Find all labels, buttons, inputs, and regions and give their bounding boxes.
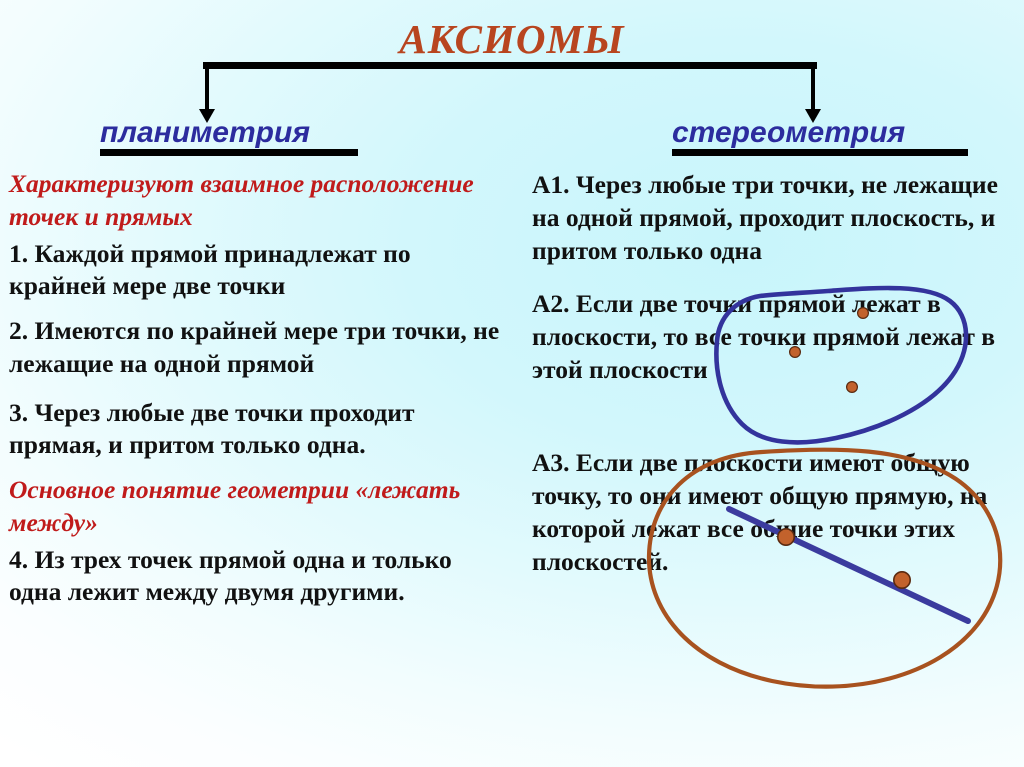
bracket-left-stem [205,67,209,111]
stereometry-axiom-a3: А3. Если две плоскости имеют общую точку… [532,446,1010,578]
planimetry-axiom-2: 2. Имеются по крайней мере три точки, не… [9,315,509,381]
heading-planimetry-underline [100,149,358,156]
planimetry-axiom-4: 4. Из трех точек прямой одна и только од… [9,544,509,610]
stereometry-axiom-a2: А2. Если две точки прямой лежат в плоско… [532,287,1010,386]
bracket-horizontal-bar [203,62,817,69]
planimetry-axiom-1: 1. Каждой прямой принадлежат по крайней … [9,238,509,304]
planimetry-note-2: Основное понятие геометрии «лежать между… [9,474,509,540]
column-planimetry: Характеризуют взаимное расположение точе… [9,168,509,621]
bracket-right-stem [811,67,815,111]
slide-canvas: АКСИОМЫ планиметрия стереометрия Характе… [0,0,1024,767]
planimetry-note-1: Характеризуют взаимное расположение точе… [9,168,509,234]
page-title: АКСИОМЫ [0,19,1024,60]
heading-stereometry-underline [672,149,968,156]
heading-planimetry: планиметрия [100,118,358,156]
planimetry-axiom-3: 3. Через любые две точки проходит прямая… [9,397,509,463]
stereometry-axiom-a1: А1. Через любые три точки, не лежащие на… [532,168,1010,267]
column-stereometry: А1. Через любые три точки, не лежащие на… [532,168,1010,598]
branch-bracket [195,62,825,124]
heading-stereometry: стереометрия [672,118,968,156]
heading-planimetry-label: планиметрия [100,116,310,149]
heading-stereometry-label: стереометрия [672,116,905,149]
